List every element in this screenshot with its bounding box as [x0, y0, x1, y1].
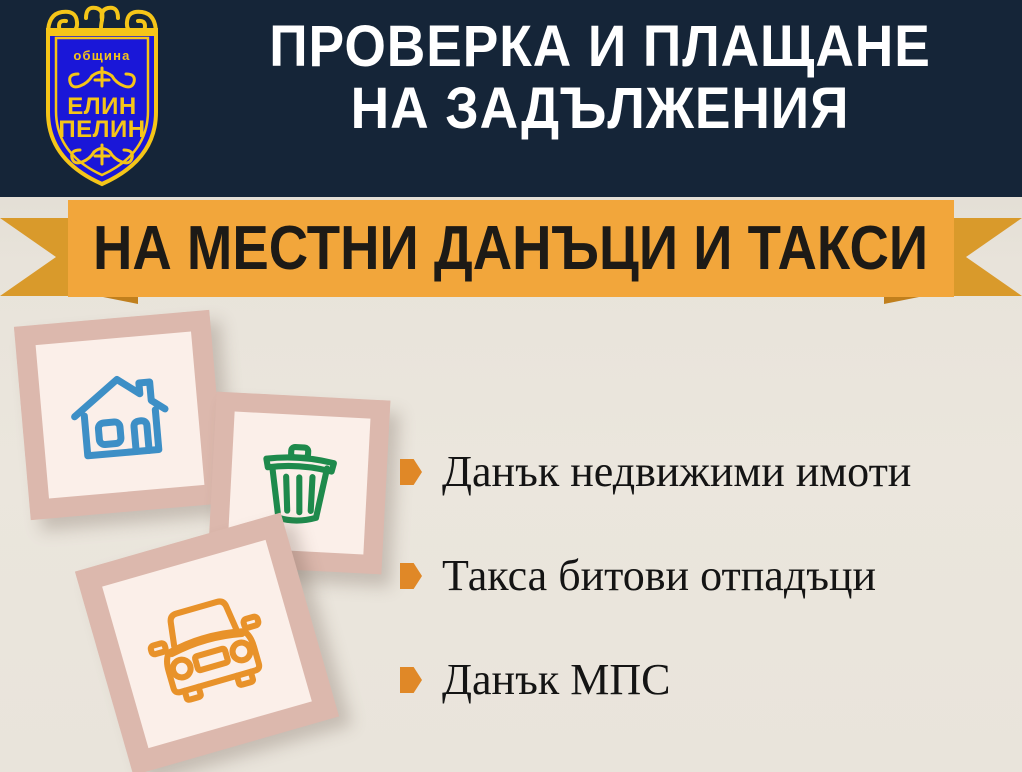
stamp-house [14, 310, 226, 520]
bullet-arrow-icon [400, 563, 422, 589]
stamp-house-paper [36, 331, 205, 498]
list-item-label: Данък МПС [442, 656, 670, 704]
list-item-label: Такса битови отпадъци [442, 552, 876, 600]
bullet-arrow-icon [400, 459, 422, 485]
coat-of-arms: община ЕЛИН ПЕЛИН [26, 4, 178, 190]
bullet-arrow-icon [400, 667, 422, 693]
ribbon-banner: НА МЕСТНИ ДАНЪЦИ И ТАКСИ [0, 196, 1022, 308]
crest-word-line2: ПЕЛИН [58, 116, 145, 143]
house-icon [61, 356, 178, 473]
list-item[interactable]: Такса битови отпадъци [400, 524, 1010, 628]
ribbon-label: НА МЕСТНИ ДАНЪЦИ И ТАКСИ [93, 217, 928, 281]
list-item-label: Данък недвижими имоти [442, 448, 911, 496]
header-bar: община ЕЛИН ПЕЛИН [0, 0, 1022, 197]
list-item[interactable]: Данък МПС [400, 628, 1010, 732]
coat-of-arms-svg: община ЕЛИН ПЕЛИН [26, 4, 178, 190]
page-title-line-1: ПРОВЕРКА И ПЛАЩАНЕ [223, 16, 977, 78]
tax-types-list: Данък недвижими имоти Такса битови отпад… [400, 420, 1010, 732]
header-title-block: ПРОВЕРКА И ПЛАЩАНЕ НА ЗАДЪЛЖЕНИЯ [190, 16, 1010, 140]
list-item[interactable]: Данък недвижими имоти [400, 420, 1010, 524]
car-front-icon [133, 573, 281, 714]
crest-word-top: община [73, 48, 130, 63]
page-title-line-2: НА ЗАДЪЛЖЕНИЯ [223, 78, 977, 140]
poster-canvas: община ЕЛИН ПЕЛИН [0, 0, 1022, 772]
ribbon-main-panel: НА МЕСТНИ ДАНЪЦИ И ТАКСИ [68, 200, 954, 297]
